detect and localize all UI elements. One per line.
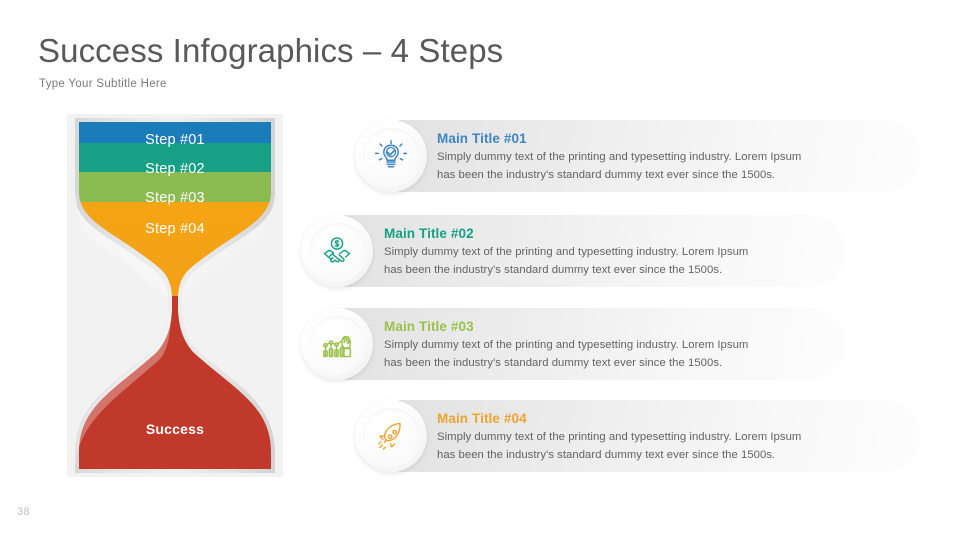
step-band-2 — [67, 143, 283, 172]
card-title: Main Title #04 — [437, 410, 801, 427]
lightbulb-check-icon — [374, 139, 408, 173]
list-item[interactable]: Main Title #04 Simply dummy text of the … — [355, 400, 920, 472]
card-title: Main Title #02 — [384, 225, 748, 242]
card-icon-badge — [355, 400, 427, 472]
card-text-block: Main Title #04 Simply dummy text of the … — [437, 410, 801, 464]
card-text-block: Main Title #02 Simply dummy text of the … — [384, 225, 748, 279]
card-text-block: Main Title #03 Simply dummy text of the … — [384, 318, 748, 372]
card-icon-badge — [355, 120, 427, 192]
hourglass-graphic — [67, 114, 283, 477]
card-title: Main Title #01 — [437, 130, 801, 147]
hourglass-steps — [67, 114, 283, 310]
page-subtitle: Type Your Subtitle Here — [39, 78, 167, 90]
card-title: Main Title #03 — [384, 318, 748, 335]
page-title: Success Infographics – 4 Steps — [38, 32, 503, 70]
page-number: 38 — [17, 506, 30, 518]
list-item[interactable]: Main Title #01 Simply dummy text of the … — [355, 120, 920, 192]
list-item[interactable]: Main Title #02 Simply dummy text of the … — [301, 215, 846, 287]
handshake-money-icon — [320, 234, 354, 268]
card-body: Simply dummy text of the printing and ty… — [384, 244, 748, 279]
list-item[interactable]: Main Title #03 Simply dummy text of the … — [301, 308, 846, 380]
rocket-icon — [374, 419, 408, 453]
step-band-4 — [67, 202, 283, 310]
card-body: Simply dummy text of the printing and ty… — [437, 149, 801, 184]
card-icon-badge — [301, 308, 373, 380]
hourglass-result — [67, 296, 283, 477]
step-band-3 — [67, 172, 283, 202]
card-text-block: Main Title #01 Simply dummy text of the … — [437, 130, 801, 184]
card-body: Simply dummy text of the printing and ty… — [437, 429, 801, 464]
growth-chart-icon — [320, 327, 354, 361]
card-icon-badge — [301, 215, 373, 287]
card-body: Simply dummy text of the printing and ty… — [384, 337, 748, 372]
hourglass-panel: Step #01 Step #02 Step #03 Step #04 Succ… — [67, 114, 283, 477]
